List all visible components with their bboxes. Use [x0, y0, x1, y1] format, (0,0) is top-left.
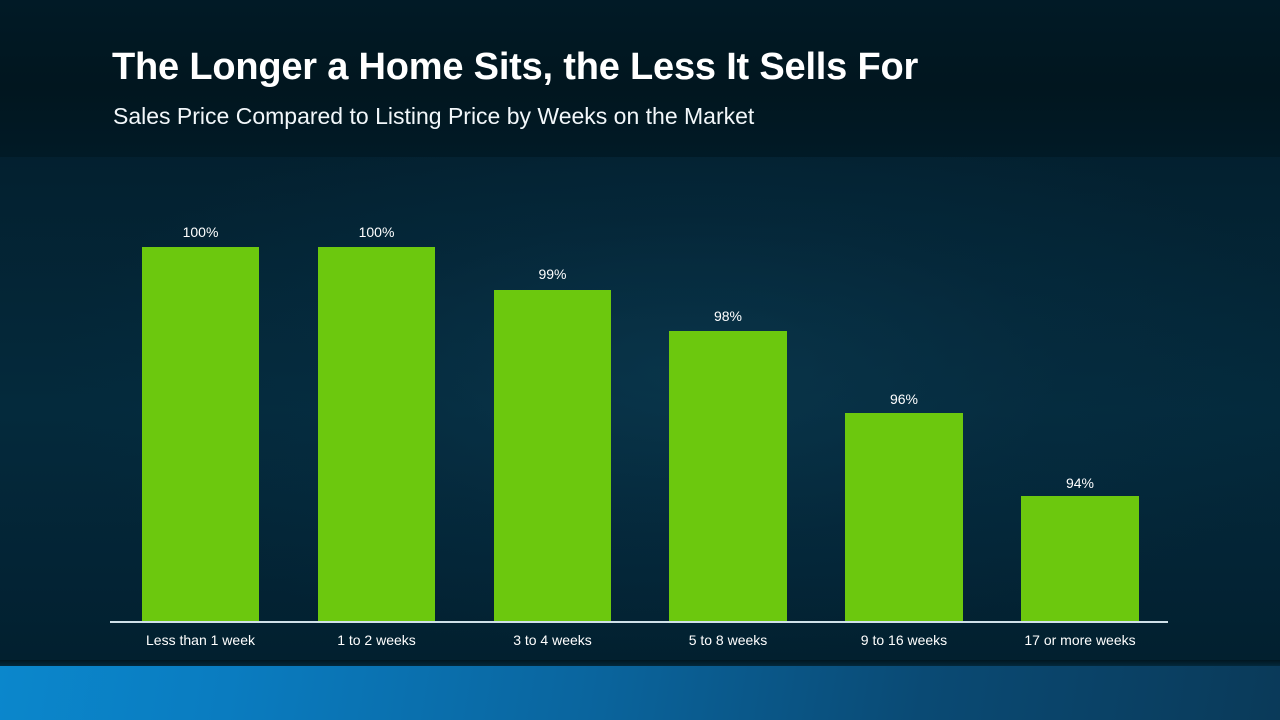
- x-axis-category-label: 17 or more weeks: [1001, 632, 1159, 648]
- bar-value-label: 100%: [142, 224, 259, 240]
- bar-value-label: 96%: [845, 391, 963, 407]
- x-axis-category-label: 3 to 4 weeks: [474, 632, 631, 648]
- footer-bar: Keeping Current Matters Source: NAR: [0, 666, 1280, 720]
- bar-value-label: 94%: [1021, 475, 1139, 491]
- bar-value-label: 99%: [494, 266, 611, 282]
- x-axis-category-label: Less than 1 week: [122, 632, 279, 648]
- bar-value-label: 98%: [669, 308, 787, 324]
- bar: [142, 247, 259, 621]
- x-axis-line: [110, 621, 1168, 623]
- bar: [845, 413, 963, 621]
- x-axis-category-label: 9 to 16 weeks: [825, 632, 983, 648]
- slide-root: The Longer a Home Sits, the Less It Sell…: [0, 0, 1280, 720]
- bar: [318, 247, 435, 621]
- bar-value-label: 100%: [318, 224, 435, 240]
- bar: [494, 290, 611, 621]
- bar: [1021, 496, 1139, 621]
- x-axis-category-label: 5 to 8 weeks: [649, 632, 807, 648]
- x-axis-category-label: 1 to 2 weeks: [298, 632, 455, 648]
- bar: [669, 331, 787, 621]
- bar-chart: 100%Less than 1 week100%1 to 2 weeks99%3…: [0, 0, 1280, 660]
